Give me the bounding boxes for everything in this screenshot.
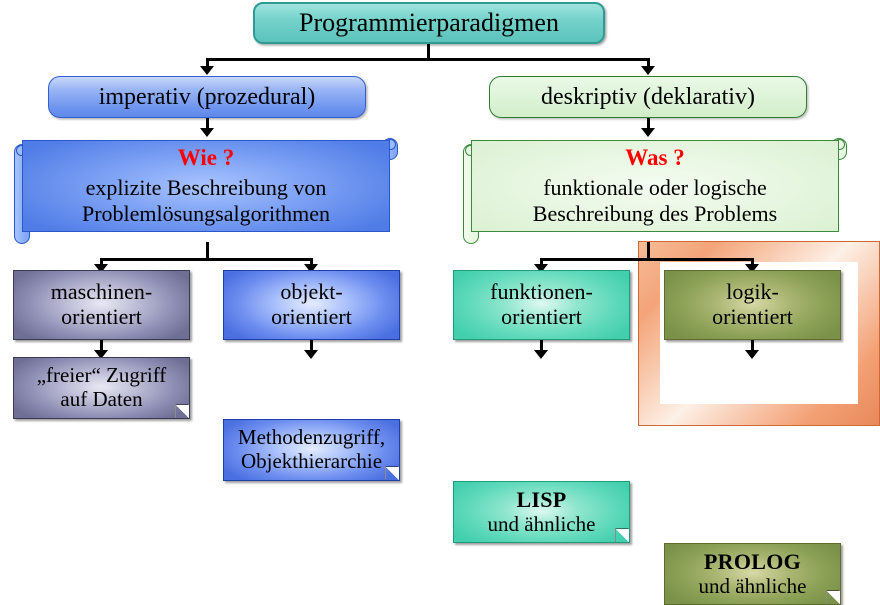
node-label: deskriptiv (deklarativ)	[541, 84, 755, 111]
scroll-body: Was ? funktionale oder logische Beschrei…	[471, 140, 839, 232]
connector-imperativ-leaf-bar	[100, 258, 313, 261]
connector-root-bar	[206, 58, 650, 61]
question-label: Was ?	[625, 144, 684, 172]
description-line-1: explizite Beschreibung von	[86, 175, 327, 201]
node-label-line-1: maschinen-	[51, 280, 152, 305]
arrow-to-deskriptiv	[641, 66, 655, 75]
node-imperativ[interactable]: imperativ (prozedural)	[48, 76, 366, 118]
node-wie-scroll[interactable]: Wie ? explizite Beschreibung von Problem…	[8, 132, 404, 242]
node-label-line-1: PROLOG	[704, 550, 801, 575]
node-label-line-1: Methodenzugriff,	[238, 426, 385, 450]
node-label-line-2: und ähnliche	[488, 513, 596, 537]
diagram-canvas: Programmierparadigmen imperativ (prozedu…	[0, 0, 880, 426]
node-label-line-2: und ähnliche	[699, 575, 807, 599]
node-label: imperativ (prozedural)	[99, 84, 316, 111]
description-line-1: funktionale oder logische	[543, 175, 767, 201]
node-funktionen-orientiert[interactable]: funktionen- orientiert	[453, 270, 630, 340]
node-label-line-1: objekt-	[280, 280, 342, 305]
node-label-line-1: logik-	[726, 280, 779, 305]
node-label-line-2: auf Daten	[60, 388, 142, 412]
node-logik-orientiert[interactable]: logik- orientiert	[664, 270, 841, 340]
node-label-line-2: orientiert	[712, 305, 793, 330]
scroll-body: Wie ? explizite Beschreibung von Problem…	[22, 140, 390, 232]
node-label-line-2: Objekthierarchie	[241, 450, 382, 474]
connector-deskriptiv-leaf-bar	[540, 258, 754, 261]
node-lisp[interactable]: LISP und ähnliche	[453, 481, 630, 543]
description-line-2: Problemlösungsalgorithmen	[82, 201, 330, 227]
node-label-line-2: orientiert	[501, 305, 582, 330]
arrow-to-prolog	[745, 350, 759, 359]
node-programmierparadigmen[interactable]: Programmierparadigmen	[253, 2, 605, 44]
arrow-to-methodenzugriff	[304, 350, 318, 359]
arrow-to-lisp	[534, 350, 548, 359]
node-maschinen-orientiert[interactable]: maschinen- orientiert	[13, 270, 190, 340]
node-prolog[interactable]: PROLOG und ähnliche	[664, 543, 841, 605]
question-label: Wie ?	[178, 144, 234, 172]
node-objekt-orientiert[interactable]: objekt- orientiert	[223, 270, 400, 340]
node-label-line-1: LISP	[516, 488, 566, 513]
node-deskriptiv[interactable]: deskriptiv (deklarativ)	[489, 76, 807, 118]
node-was-scroll[interactable]: Was ? funktionale oder logische Beschrei…	[457, 132, 853, 242]
node-methodenzugriff[interactable]: Methodenzugriff, Objekthierarchie	[223, 419, 400, 481]
node-label-line-2: orientiert	[271, 305, 352, 330]
node-freier-zugriff[interactable]: „freier“ Zugriff auf Daten	[13, 357, 190, 419]
node-label-line-1: funktionen-	[490, 280, 593, 305]
description-line-2: Beschreibung des Problems	[533, 201, 777, 227]
node-label-line-2: orientiert	[61, 305, 142, 330]
node-label: Programmierparadigmen	[299, 8, 559, 37]
node-label-line-1: „freier“ Zugriff	[37, 364, 167, 388]
arrow-to-imperativ	[200, 66, 214, 75]
